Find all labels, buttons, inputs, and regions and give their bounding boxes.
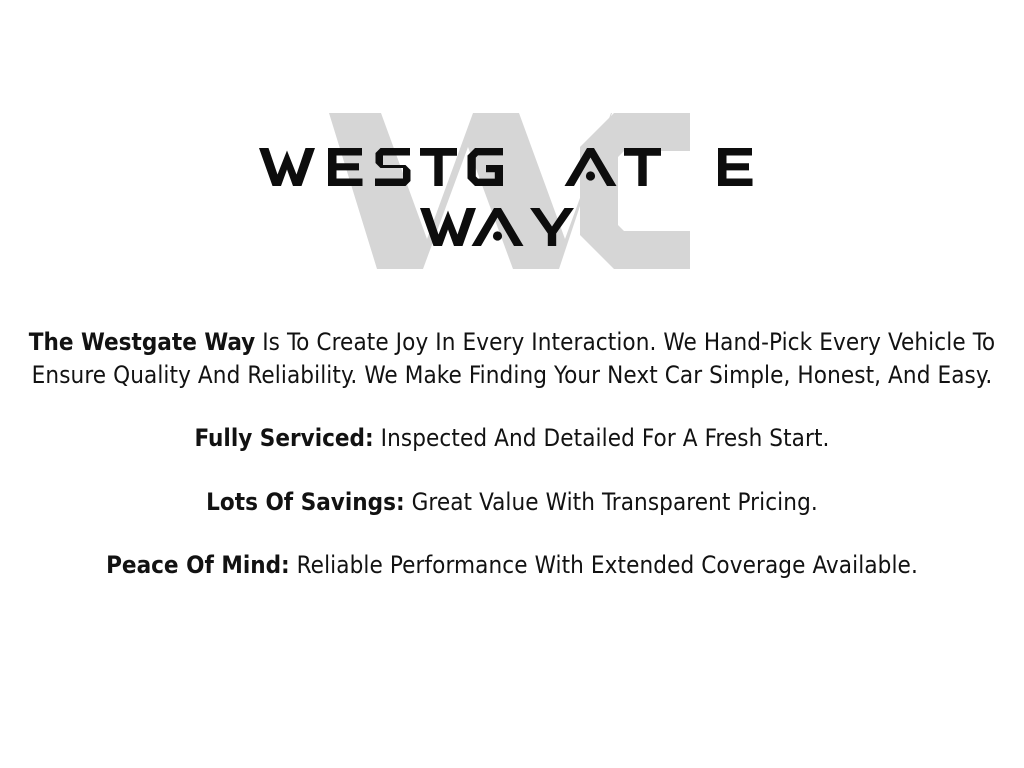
- paragraph-lead: The Westgate Way: [29, 328, 255, 356]
- westgate-way-slide: The Westgate Way Is To Create Joy In Eve…: [0, 0, 1024, 768]
- paragraph-peace-of-mind: Peace Of Mind: Reliable Performance With…: [12, 549, 1012, 582]
- paragraph-fully-serviced: Fully Serviced: Inspected And Detailed F…: [12, 422, 1012, 455]
- paragraph-body: Reliable Performance With Extended Cover…: [290, 551, 918, 579]
- paragraph-lead: Peace Of Mind:: [106, 551, 290, 579]
- brand-logo: [0, 100, 1024, 290]
- paragraph-lead: Lots Of Savings:: [206, 488, 404, 516]
- paragraph-lead: Fully Serviced:: [194, 424, 373, 452]
- paragraph-body: Great Value With Transparent Pricing.: [405, 488, 818, 516]
- wordmark-icon: [0, 100, 1024, 290]
- paragraph-lots-of-savings: Lots Of Savings: Great Value With Transp…: [12, 486, 1012, 519]
- paragraph-body: Inspected And Detailed For A Fresh Start…: [374, 424, 830, 452]
- value-proposition-copy: The Westgate Way Is To Create Joy In Eve…: [12, 326, 1012, 582]
- paragraph-westgate-way: The Westgate Way Is To Create Joy In Eve…: [12, 326, 1012, 391]
